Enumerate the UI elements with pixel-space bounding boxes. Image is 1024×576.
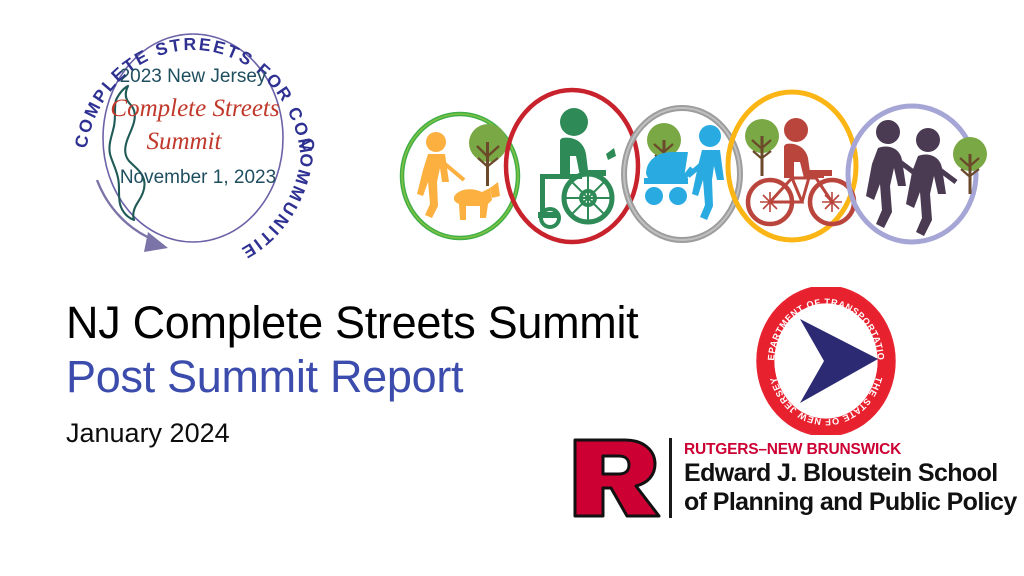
circle-bicycle	[728, 92, 856, 240]
mode-circles-graphic	[392, 78, 1012, 254]
seal-line-2: Complete Streets	[110, 95, 279, 122]
circle-walking-dog	[402, 114, 518, 238]
slide-canvas: COMPLETE STREETS FOR COMPLETE COMMUNITIE…	[0, 0, 1024, 576]
njdot-logo: DEPARTMENT OF TRANSPORTATION THE STATE O…	[752, 287, 900, 435]
rutgers-bloustein-logo: RUTGERS–NEW BRUNSWICK Edward J. Bloustei…	[569, 434, 993, 522]
seal-line-1: 2023 New Jersey	[120, 66, 267, 87]
circle-stroller	[624, 108, 740, 240]
title-block: NJ Complete Streets Summit Post Summit R…	[66, 297, 746, 451]
circle-pedestrians	[848, 106, 987, 242]
page-title-line-1: NJ Complete Streets Summit	[66, 297, 746, 349]
page-title-line-2: Post Summit Report	[66, 349, 746, 405]
complete-streets-summit-logo: COMPLETE STREETS FOR COMPLETE COMMUNITIE…	[62, 12, 324, 262]
seal-line-3: Summit	[147, 128, 223, 155]
rutgers-school-line-1: Edward J. Bloustein School	[684, 459, 1017, 488]
seal-line-4: November 1, 2023	[120, 167, 276, 188]
seal-arrow-tail	[97, 180, 154, 240]
rutgers-divider-rule	[669, 438, 672, 518]
circle-wheelchair	[506, 90, 638, 242]
njdot-chevron-icon	[800, 319, 878, 403]
rutgers-unit-name: RUTGERS–NEW BRUNSWICK	[684, 441, 1017, 459]
rutgers-school-line-2: of Planning and Public Policy	[684, 488, 1017, 517]
rutgers-r-monogram	[569, 434, 663, 522]
seal-arrowhead	[144, 232, 168, 252]
